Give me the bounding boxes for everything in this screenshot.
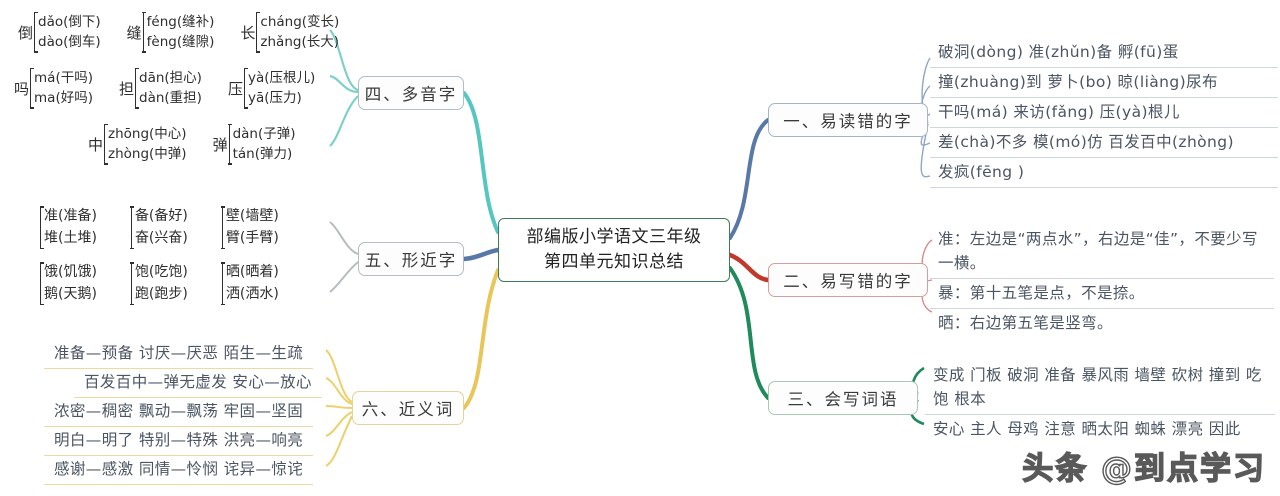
similar-char-item: 壁(墙壁) 臂(手臂) <box>222 206 279 249</box>
polyphone-char: 倒 <box>18 22 33 43</box>
leaf-item: 安心 主人 母鸡 注意 晒太阳 蜘蛛 漂亮 因此 <box>925 415 1275 444</box>
branch-label-huixie-ciyu[interactable]: 三、会写词语 <box>768 381 918 415</box>
polyphone-reading: zhòng(中弹) <box>108 144 187 164</box>
similar-char: 饱(吃饱) <box>135 262 188 284</box>
branch-label-text: 六、近义词 <box>362 396 455 420</box>
leaf-group-huixie-ciyu: 变成 门板 破洞 准备 暴风雨 墙壁 砍树 撞到 吃饱 根本 安心 主人 母鸡 … <box>925 361 1275 444</box>
polyphone-reading: dàn(重担) <box>139 88 202 108</box>
synonym-item: 浓密—稠密 飘动—飘荡 牢固—坚固 <box>44 398 313 427</box>
similar-char: 准(准备) <box>44 206 97 228</box>
polyphone-reading: yā(压力) <box>248 88 315 108</box>
similar-char: 跑(跑步) <box>135 284 188 306</box>
central-topic-line2: 第四单元知识总结 <box>544 250 684 275</box>
polyphone-reading: féng(缝补) <box>147 12 215 32</box>
similar-char-item: 晒(晒着) 洒(洒水) <box>222 262 279 305</box>
polyphone-reading: dān(担心) <box>139 68 202 88</box>
branch-label-duoyinzi[interactable]: 四、多音字 <box>358 76 464 110</box>
synonym-item: 百发百中—弹无虚发 安心—放心 <box>74 369 322 398</box>
leaf-item: 差(chà)不多 模(mó)仿 百发百中(zhòng) <box>930 128 1278 158</box>
branch-label-text: 四、多音字 <box>365 81 458 105</box>
polyphone-item: 中 zhōng(中心) zhòng(中弹) <box>88 124 187 165</box>
polyphone-item: 倒 dǎo(倒下) dào(倒车) <box>18 12 101 53</box>
polyphone-item: 长 cháng(变长) zhǎng(长大) <box>240 12 339 53</box>
branch-label-text: 二、易写错的字 <box>783 268 913 292</box>
synonym-item: 明白—明了 特别—特殊 洪亮—响亮 <box>44 427 313 456</box>
branch-label-jinyici[interactable]: 六、近义词 <box>352 391 464 425</box>
similar-char-row: 准(准备) 堆(土堆) 备(备好) 奋(兴奋) 壁(墙壁) 臂(手臂) <box>40 206 313 249</box>
similar-char: 奋(兴奋) <box>135 228 188 250</box>
polyphone-item: 担 dān(担心) dàn(重担) <box>119 68 202 109</box>
polyphone-reading: tán(弹力) <box>233 144 296 164</box>
similar-char-item: 饿(饥饿) 鹅(天鹅) <box>40 262 97 305</box>
polyphone-char: 长 <box>240 22 255 43</box>
leaf-group-yidu-cuo-de-zi: 破洞(dòng) 准(zhǔn)备 孵(fū)蛋 撞(zhuàng)到 萝卜(b… <box>930 38 1274 188</box>
similar-char-item: 饱(吃饱) 跑(跑步) <box>131 262 188 305</box>
leaf-item: 暴：第十五笔是点，不是捺。 <box>930 279 1274 309</box>
polyphone-reading: zhōng(中心) <box>108 124 187 144</box>
polyphone-char: 吗 <box>14 78 29 99</box>
polyphone-reading: dào(倒车) <box>38 32 101 52</box>
polyphone-item: 弹 dàn(子弹) tán(弹力) <box>213 124 296 165</box>
branch-label-text: 三、会写词语 <box>788 386 899 410</box>
leaf-item: 晒：右边第五笔是竖弯。 <box>930 309 1274 338</box>
synonym-item: 准备—预备 讨厌—厌恶 陌生—生疏 <box>44 340 313 369</box>
polyphone-reading: dàn(子弹) <box>233 124 296 144</box>
polyphone-reading: cháng(变长) <box>260 12 339 32</box>
polyphone-reading: yà(压根儿) <box>248 68 315 88</box>
similar-char: 堆(土堆) <box>44 228 97 250</box>
leaf-item: 干吗(má) 来访(fǎng) 压(yà)根儿 <box>930 98 1278 128</box>
similar-char: 洒(洒水) <box>226 284 279 306</box>
branch-label-yixie-cuo-de-zi[interactable]: 二、易写错的字 <box>768 263 928 297</box>
branch-label-text: 一、易读错的字 <box>783 108 913 132</box>
polyphone-reading: zhǎng(长大) <box>260 32 339 52</box>
similar-char-item: 备(备好) 奋(兴奋) <box>131 206 188 249</box>
leaf-item: 破洞(dòng) 准(zhǔn)备 孵(fū)蛋 <box>930 38 1278 68</box>
polyphone-reading: má(干吗) <box>34 68 93 88</box>
central-topic[interactable]: 部编版小学语文三年级 第四单元知识总结 <box>498 218 730 282</box>
leaf-item: 变成 门板 破洞 准备 暴风雨 墙壁 砍树 撞到 吃饱 根本 <box>925 361 1275 415</box>
watermark: 头条 @到点学习 <box>1022 443 1266 488</box>
polyphone-reading: dǎo(倒下) <box>38 12 101 32</box>
similar-char: 备(备好) <box>135 206 188 228</box>
similar-char: 臂(手臂) <box>226 228 279 250</box>
similar-char: 鹅(天鹅) <box>44 284 97 306</box>
polyphone-char: 压 <box>228 78 243 99</box>
similar-char-row: 饿(饥饿) 鹅(天鹅) 饱(吃饱) 跑(跑步) 晒(晒着) 洒(洒水) <box>40 262 313 305</box>
central-topic-line1: 部编版小学语文三年级 <box>527 225 702 250</box>
polyphone-char: 弹 <box>213 134 228 155</box>
leaf-item: 撞(zhuàng)到 萝卜(bo) 晾(liàng)尿布 <box>930 68 1278 98</box>
leaf-group-yixie-cuo-de-zi: 准：左边是“两点水”，右边是“佳”，不要少写一横。 暴：第十五笔是点，不是捺。 … <box>930 225 1274 338</box>
polyphone-item: 压 yà(压根儿) yā(压力) <box>228 68 315 109</box>
leaf-item: 准：左边是“两点水”，右边是“佳”，不要少写一横。 <box>930 225 1274 279</box>
polyphone-reading: ma(好吗) <box>34 88 93 108</box>
similar-char: 壁(墙壁) <box>226 206 279 228</box>
polyphone-char: 中 <box>88 134 103 155</box>
polyphone-item: 缝 féng(缝补) fèng(缝隙) <box>127 12 215 53</box>
branch-label-xingjinzi[interactable]: 五、形近字 <box>358 242 464 276</box>
polyphone-row: 中 zhōng(中心) zhòng(中弹) 弹 dàn(子弹) tán(弹力) <box>88 124 322 165</box>
similar-char-item: 准(准备) 堆(土堆) <box>40 206 97 249</box>
leaf-item: 发疯(fēng ) <box>930 158 1278 188</box>
branch-label-text: 五、形近字 <box>365 247 458 271</box>
similar-char: 饿(饥饿) <box>44 262 97 284</box>
polyphone-item: 吗 má(干吗) ma(好吗) <box>14 68 93 109</box>
mindmap-canvas: 部编版小学语文三年级 第四单元知识总结 一、易读错的字 破洞(dòng) 准(z… <box>0 0 1280 496</box>
polyphone-reading: fèng(缝隙) <box>147 32 215 52</box>
polyphone-row: 倒 dǎo(倒下) dào(倒车) 缝 féng(缝补) fèng(缝隙) 长 … <box>18 12 365 53</box>
polyphone-row: 吗 má(干吗) ma(好吗) 担 dān(担心) dàn(重担) 压 yà(压… <box>14 68 341 109</box>
synonym-item: 感谢—感激 同情—怜悯 诧异—惊诧 <box>44 456 313 485</box>
polyphone-char: 缝 <box>127 22 142 43</box>
branch-label-yidu-cuo-de-zi[interactable]: 一、易读错的字 <box>768 103 928 137</box>
similar-char: 晒(晒着) <box>226 262 279 284</box>
polyphone-char: 担 <box>119 78 134 99</box>
